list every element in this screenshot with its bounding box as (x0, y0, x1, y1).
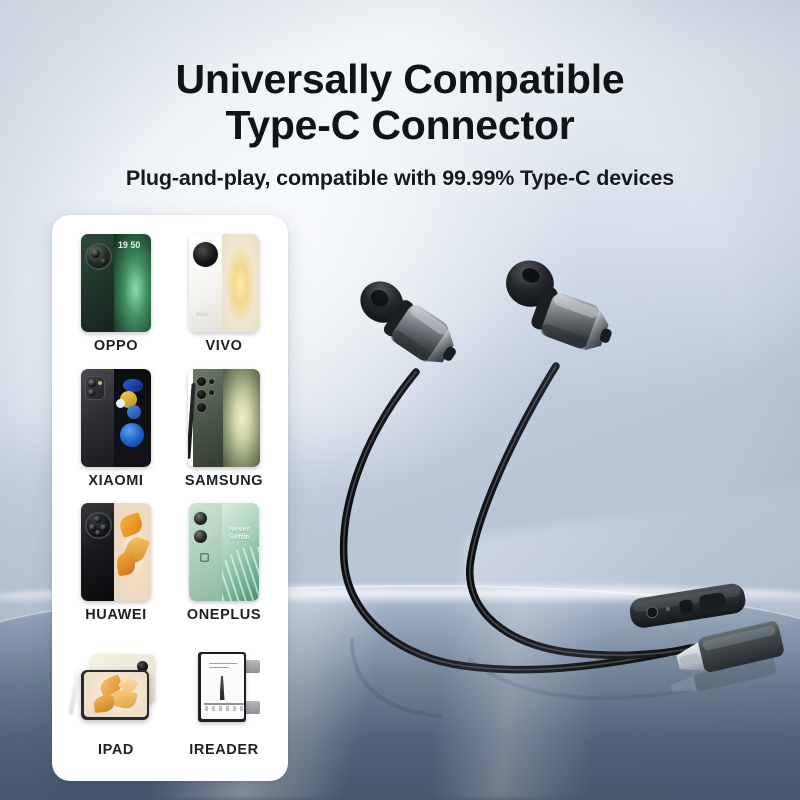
device-image-xiaomi (62, 366, 170, 470)
phone-screen-oppo: 19 50 (114, 234, 151, 332)
brand-label-samsung: SAMSUNG (185, 473, 263, 489)
wallpaper-shape (123, 379, 143, 392)
screen-slogan-text: Never Settle (229, 525, 259, 541)
stylus-pen-icon (69, 666, 81, 714)
phone-back-oneplus (189, 503, 222, 601)
phone-screen-samsung (223, 369, 260, 467)
wallpaper-shape (120, 423, 144, 447)
brand-item-samsung: SAMSUNG (170, 366, 278, 501)
brand-label-oneplus: ONEPLUS (187, 607, 261, 623)
phone-xiaomi (81, 369, 151, 467)
brand-logo-text: vivo (196, 312, 208, 318)
device-image-ipad (62, 635, 170, 739)
phone-vivo: vivo (189, 234, 259, 332)
camera-lens-icon (194, 530, 207, 543)
brand-grid: 19 50 OPPO vivo VIVO (62, 231, 278, 769)
phone-samsung (188, 369, 260, 467)
horizon-line (204, 703, 244, 705)
headline-line-1: Universally Compatible (0, 56, 800, 102)
brand-label-xiaomi: XIAOMI (88, 473, 143, 489)
brand-item-oppo: 19 50 OPPO (62, 231, 170, 366)
brand-label-huawei: HUAWEI (85, 607, 147, 623)
brand-item-oneplus: Never Settle ONEPLUS (170, 500, 278, 635)
oneplus-logo-icon (200, 553, 209, 562)
compatible-brands-panel: 19 50 OPPO vivo VIVO (52, 215, 288, 781)
wallpaper-petal (115, 552, 136, 576)
lighthouse-illustration (220, 676, 225, 700)
ereader-screen (201, 654, 244, 719)
phone-oppo: 19 50 (81, 234, 151, 332)
camera-lens-icon (194, 512, 207, 525)
camera-module-icon (85, 512, 112, 539)
phone-back-xiaomi (81, 369, 114, 467)
ereader-body (198, 652, 246, 722)
screen-clock-text: 19 50 (118, 241, 141, 250)
brand-item-vivo: vivo VIVO (170, 231, 278, 366)
screen-text-line (209, 663, 237, 664)
brand-label-vivo: VIVO (205, 338, 242, 354)
phone-back-samsung (193, 369, 223, 467)
tablet-ipad (73, 654, 159, 720)
shoreline-texture (205, 706, 243, 711)
brand-label-ireader: IREADER (189, 742, 258, 758)
device-image-oppo: 19 50 (62, 231, 170, 335)
phone-oneplus: Never Settle (189, 503, 259, 601)
brand-item-huawei: HUAWEI (62, 500, 170, 635)
device-image-huawei (62, 500, 170, 604)
wallpaper-petal (117, 512, 144, 538)
device-image-ireader (170, 635, 278, 739)
phone-screen-huawei (114, 503, 151, 601)
headline-line-2: Type-C Connector (0, 102, 800, 148)
device-image-vivo: vivo (170, 231, 278, 335)
phone-back-vivo: vivo (189, 234, 222, 332)
phone-screen-vivo (222, 234, 259, 332)
camera-module-icon (85, 376, 105, 400)
tablet-screen-ipad (84, 672, 147, 717)
phone-back-huawei (81, 503, 114, 601)
device-image-oneplus: Never Settle (170, 500, 278, 604)
brand-label-oppo: OPPO (94, 338, 138, 354)
camera-module-icon (193, 242, 218, 267)
brand-item-ipad: IPAD (62, 635, 170, 770)
brand-item-xiaomi: XIAOMI (62, 366, 170, 501)
phone-back-oppo (81, 234, 114, 332)
headline-block: Universally Compatible Type-C Connector (0, 56, 800, 149)
phone-huawei (81, 503, 151, 601)
wallpaper-wave (222, 547, 259, 601)
tablet-front (81, 670, 149, 720)
camera-module-icon (85, 243, 112, 270)
brand-item-ireader: IREADER (170, 635, 278, 770)
device-image-samsung (170, 366, 278, 470)
phone-screen-oneplus: Never Settle (222, 503, 259, 601)
brand-label-ipad: IPAD (98, 742, 134, 758)
ereader-ireader (188, 652, 260, 722)
wallpaper-shape (127, 405, 141, 419)
subheadline: Plug-and-play, compatible with 99.99% Ty… (0, 166, 800, 191)
wallpaper-shape (116, 399, 125, 408)
phone-screen-xiaomi (114, 369, 151, 467)
screen-text-line (209, 667, 229, 668)
